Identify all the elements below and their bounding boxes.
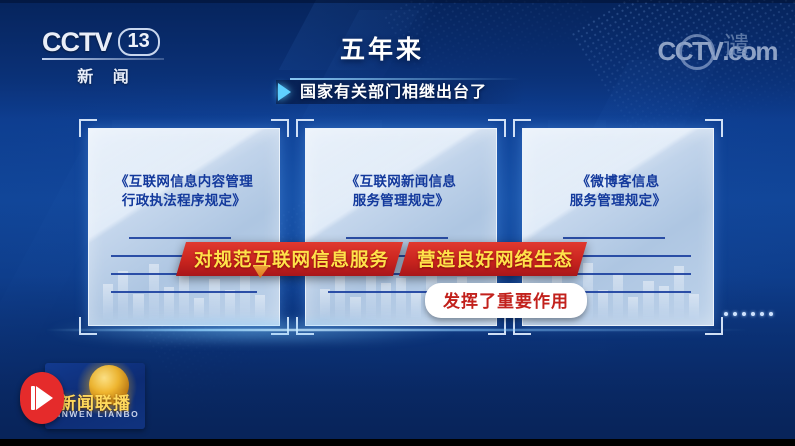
ellipsis-dot bbox=[733, 312, 737, 316]
lower-third-banner: 对规范互联网信息服务 营造良好网络生态 bbox=[176, 242, 587, 276]
cctv-com-watermark: 谴 CCTV .com bbox=[658, 36, 777, 67]
card-text-line bbox=[563, 237, 665, 239]
ellipsis-dot bbox=[742, 312, 746, 316]
corner-bracket-icon bbox=[79, 119, 97, 137]
baseline-line bbox=[45, 329, 750, 331]
corner-bracket-icon bbox=[271, 119, 289, 137]
letterbox-bottom bbox=[0, 439, 795, 446]
channel-logo: CCTV 13 新 闻 bbox=[42, 28, 192, 87]
play-button[interactable] bbox=[20, 372, 64, 424]
banner-segment-1: 对规范互联网信息服务 bbox=[176, 242, 403, 276]
card-text-line bbox=[111, 291, 257, 293]
watermark-cn-glyph: 谴 bbox=[723, 26, 749, 63]
ellipsis-dots bbox=[724, 312, 773, 316]
channel-logo-divider bbox=[42, 58, 164, 60]
play-icon-triangle bbox=[36, 386, 53, 410]
channel-logo-subtitle: 新 闻 bbox=[42, 63, 164, 87]
watermark-ring-icon bbox=[679, 34, 715, 70]
ellipsis-dot bbox=[769, 312, 773, 316]
ellipsis-dot bbox=[724, 312, 728, 316]
card-text-line bbox=[129, 237, 231, 239]
card-title: 《微博客信息 服务管理规定》 bbox=[529, 173, 707, 211]
channel-logo-row: CCTV 13 bbox=[42, 28, 192, 56]
card-title: 《互联网信息内容管理 行政执法程序规定》 bbox=[95, 173, 273, 211]
corner-bracket-icon bbox=[705, 119, 723, 137]
document-card[interactable]: 《互联网信息内容管理 行政执法程序规定》 bbox=[88, 128, 280, 326]
banner-pill: 发挥了重要作用 bbox=[425, 283, 587, 318]
card-title-line-2: 服务管理规定》 bbox=[529, 192, 707, 211]
ellipsis-dot bbox=[760, 312, 764, 316]
card-title-line-1: 《互联网新闻信息 bbox=[312, 173, 490, 192]
letterbox-top bbox=[0, 0, 795, 3]
channel-number-badge: 13 bbox=[118, 28, 160, 56]
banner-segment-2: 营造良好网络生态 bbox=[399, 242, 587, 276]
corner-bracket-icon bbox=[488, 119, 506, 137]
baseline-glow bbox=[30, 318, 765, 344]
card-title-line-1: 《互联网信息内容管理 bbox=[95, 173, 273, 192]
page-title: 五年来 bbox=[340, 30, 424, 66]
card-title: 《互联网新闻信息 服务管理规定》 bbox=[312, 173, 490, 211]
arrow-right-icon bbox=[278, 83, 291, 101]
card-title-line-2: 行政执法程序规定》 bbox=[95, 192, 273, 211]
card-title-line-1: 《微博客信息 bbox=[529, 173, 707, 192]
corner-bracket-icon bbox=[296, 119, 314, 137]
card-title-line-2: 服务管理规定》 bbox=[312, 192, 490, 211]
page-subtitle: 国家有关部门相继出台了 bbox=[300, 80, 487, 104]
play-icon-bar bbox=[31, 386, 35, 410]
broadcast-screen: CCTV 13 新 闻 谴 CCTV .com 五年来 国家有关部门相继出台了 … bbox=[0, 0, 795, 446]
cctv-wordmark: CCTV bbox=[42, 29, 112, 56]
corner-bracket-icon bbox=[513, 119, 531, 137]
card-text-line bbox=[346, 237, 448, 239]
ellipsis-dot bbox=[751, 312, 755, 316]
